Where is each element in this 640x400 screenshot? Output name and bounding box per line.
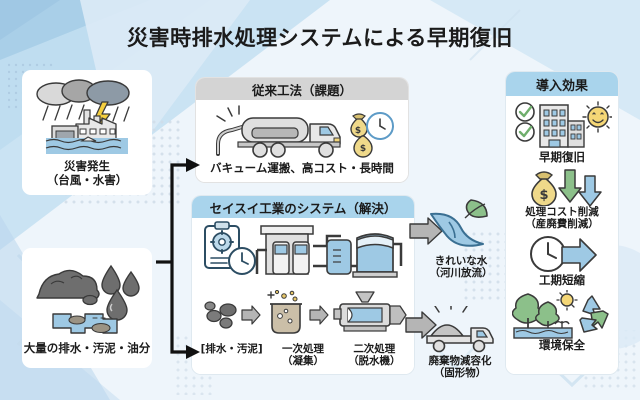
disaster-caption-line1: 災害発生 <box>22 160 152 174</box>
system-panel: セイスイ工業のシステム（解決） <box>192 196 414 374</box>
water-leaf-icon <box>425 196 497 254</box>
effects-panel: 導入効果 <box>506 72 618 374</box>
clean-water-output: きれいな水 （河川放流） <box>420 196 502 280</box>
environment-protection-icon <box>512 290 612 340</box>
effect-2-caption-line2: （産廃費削減） <box>506 218 618 230</box>
step1-label-line1: [排水・汚泥] <box>196 343 267 355</box>
process-step-1: [排水・汚泥] <box>196 343 267 368</box>
vacuum-truck-illustration: $ $ <box>208 104 396 160</box>
effect-item-1: 早期復旧 <box>506 99 618 165</box>
schedule-reduction-icon <box>524 234 600 274</box>
clean-water-caption-line2: （河川放流） <box>420 267 502 279</box>
early-recovery-icon <box>512 99 612 151</box>
effect-4-caption-line1: 環境保全 <box>506 339 618 353</box>
step3-label-line1: 二次処理 <box>339 343 410 355</box>
svg-text:$: $ <box>355 126 361 136</box>
waste-reduction-caption-line2: （固形物） <box>414 367 506 379</box>
infographic-root: 災害時排水処理システムによる早期復旧 <box>0 0 640 400</box>
svg-text:$: $ <box>539 188 548 203</box>
page-title: 災害時排水処理システムによる早期復旧 <box>0 22 640 52</box>
effect-item-3: 工期短縮 <box>506 234 618 288</box>
cost-reduction-icon: $ <box>521 168 603 206</box>
waste-card: 大量の排水・汚泥・油分 <box>22 248 152 368</box>
waste-illustration <box>31 256 143 338</box>
step2-label-line2: （凝集） <box>267 355 338 367</box>
effect-3-caption-line1: 工期短縮 <box>506 274 618 288</box>
effect-item-4: 環境保全 <box>506 290 618 353</box>
clean-water-caption-line1: きれいな水 <box>420 255 502 267</box>
effect-item-2: $ 処理コスト削減 （産廃費削減） <box>506 168 618 231</box>
traditional-panel-header: 従来工法（課題） <box>196 78 408 100</box>
traditional-caption: バキューム運搬、高コスト・長時間 <box>196 162 408 176</box>
solid-waste-truck-icon <box>417 306 503 354</box>
process-step-2: 一次処理 （凝集） <box>267 343 338 368</box>
step2-label-line1: 一次処理 <box>267 343 338 355</box>
waste-caption: 大量の排水・汚泥・油分 <box>22 342 152 356</box>
process-step-3: 二次処理 （脱水機） <box>339 343 410 368</box>
step3-label-line2: （脱水機） <box>339 355 410 367</box>
effect-1-caption-line1: 早期復旧 <box>506 151 618 165</box>
traditional-method-panel: 従来工法（課題） <box>196 78 408 182</box>
waste-reduction-caption-line1: 廃棄物減容化 <box>414 355 506 367</box>
system-panel-header: セイスイ工業のシステム（解決） <box>192 196 414 218</box>
waste-reduction-output: 廃棄物減容化 （固形物） <box>414 306 506 380</box>
process-flow-illustration <box>196 290 410 342</box>
disaster-card: 災害発生 （台風・水害） <box>22 70 152 195</box>
effect-2-caption-line1: 処理コスト削減 <box>506 206 618 218</box>
svg-text:$: $ <box>360 144 366 154</box>
effects-panel-header: 導入効果 <box>506 72 618 96</box>
disaster-illustration <box>32 78 142 156</box>
disaster-caption-line2: （台風・水害） <box>22 174 152 188</box>
treatment-plant-illustration <box>197 218 409 292</box>
